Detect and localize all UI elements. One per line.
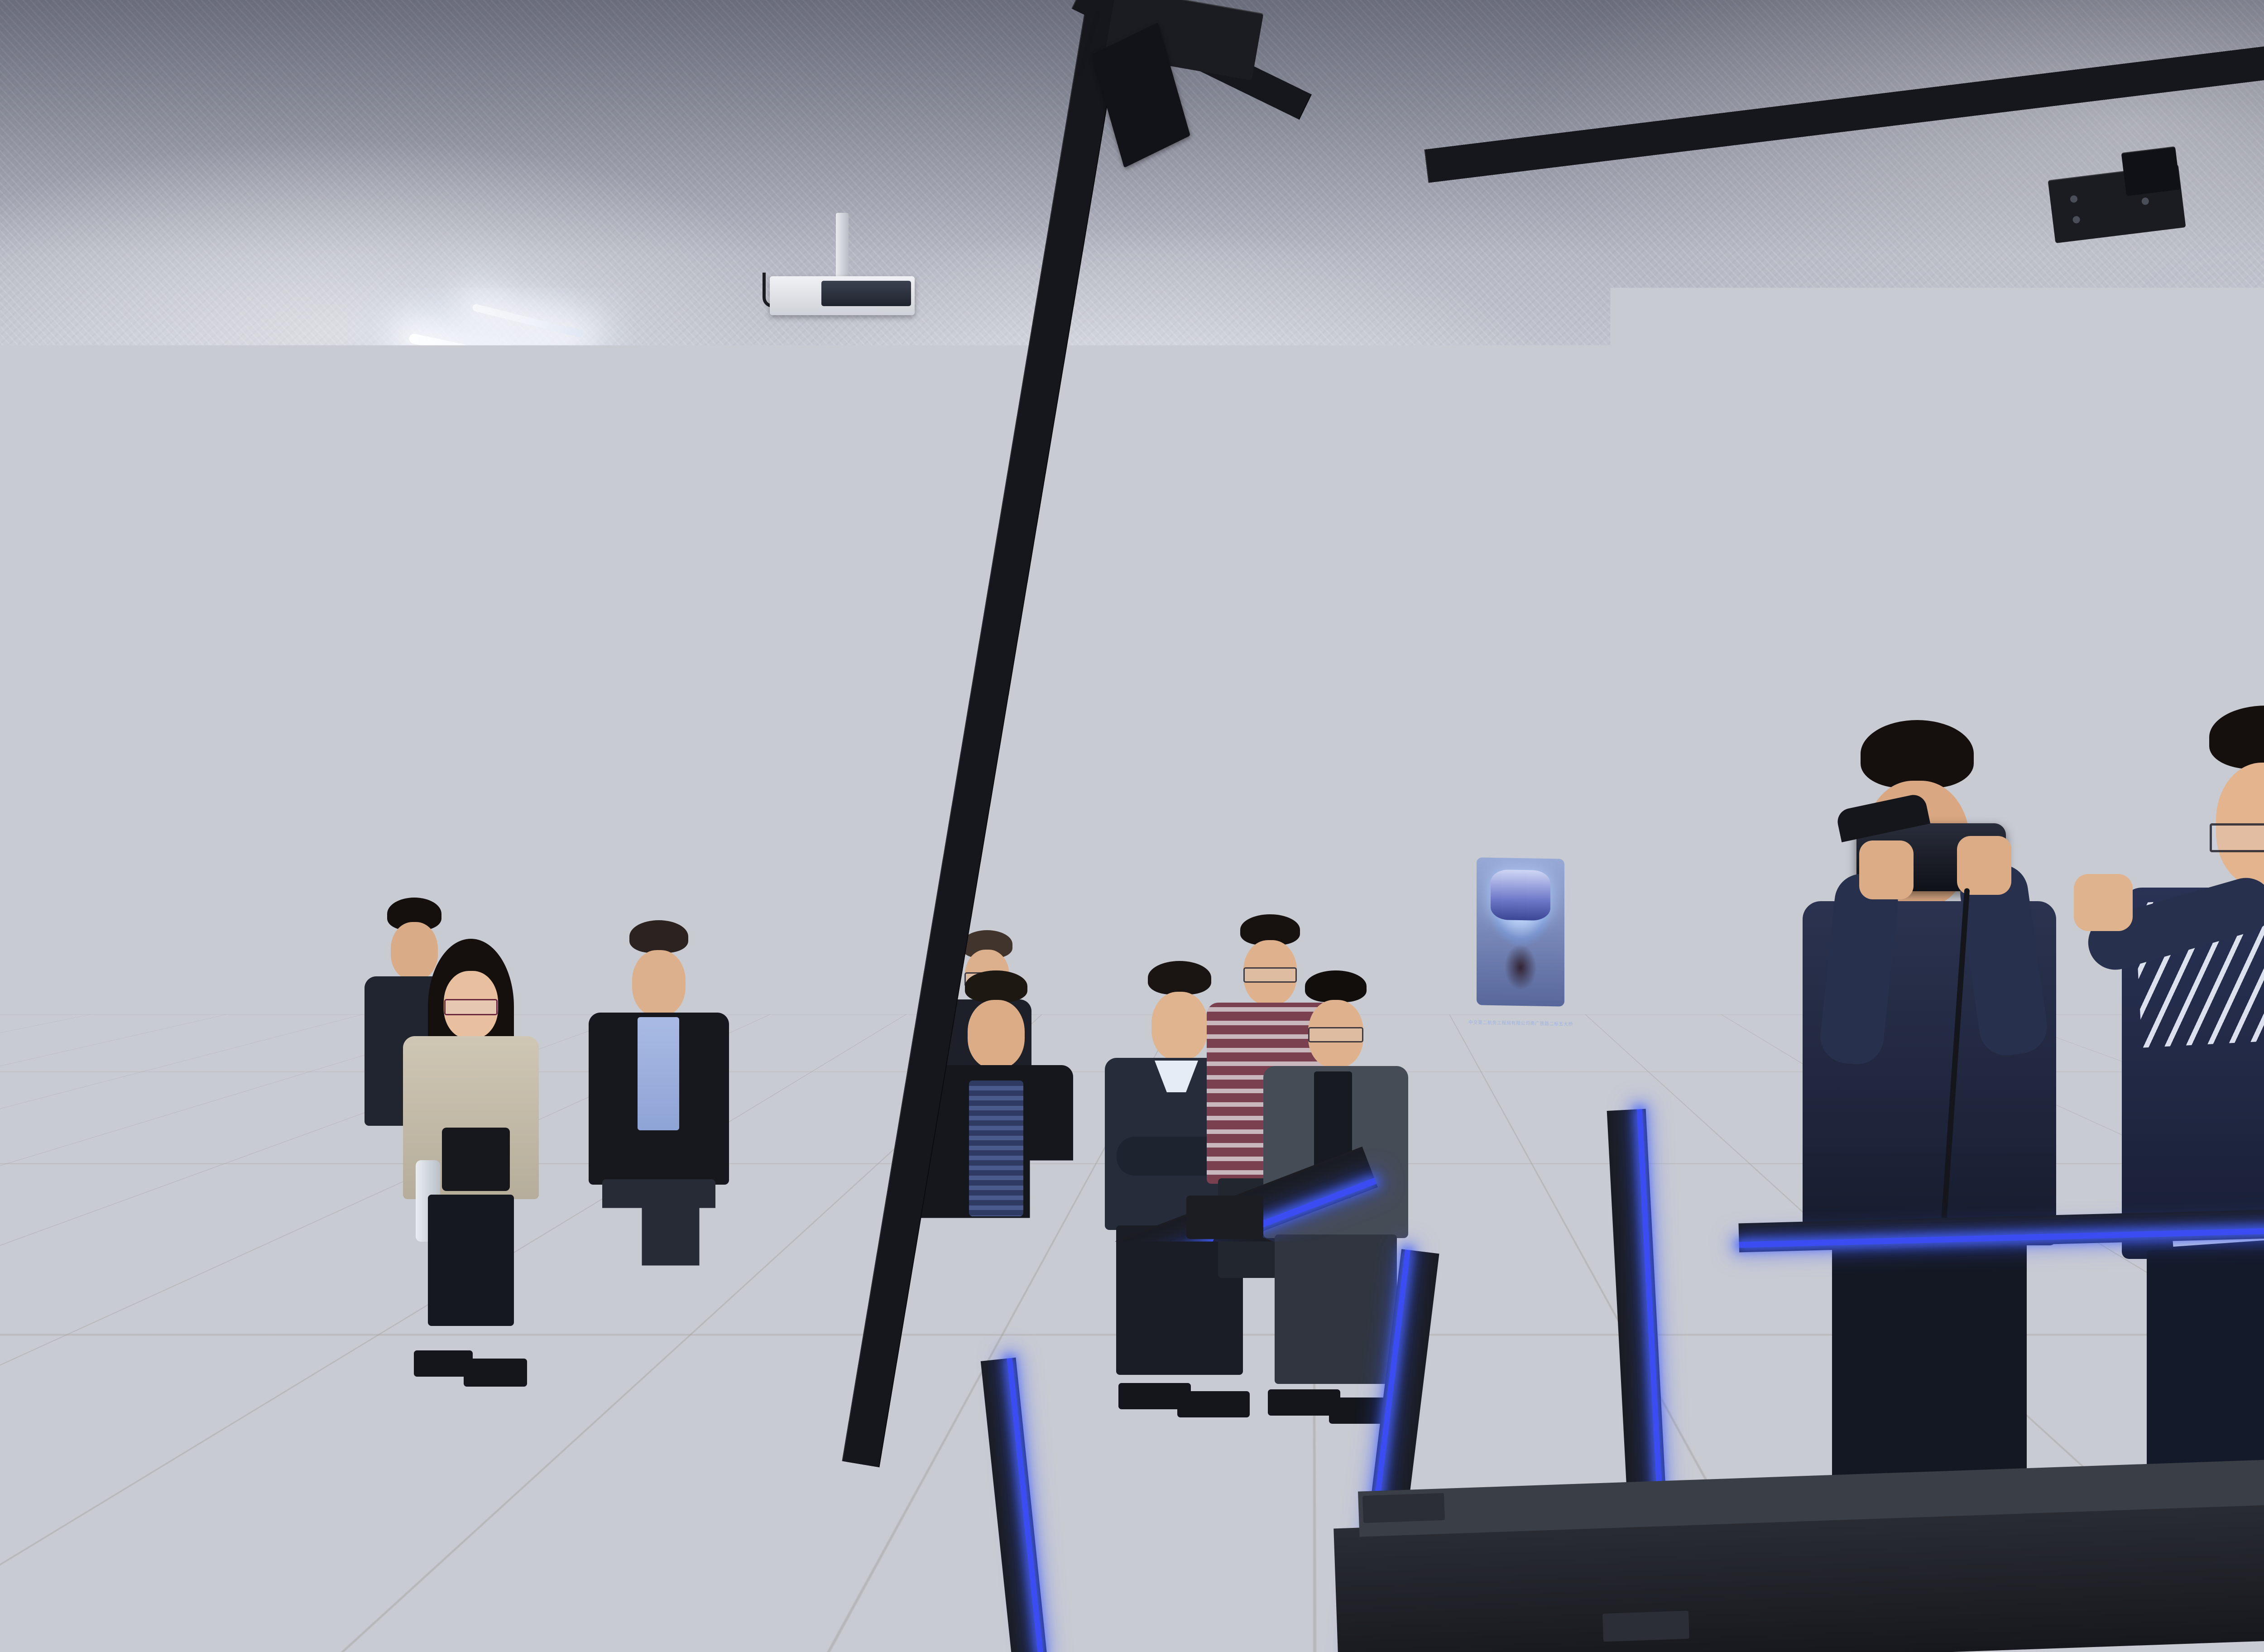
poster-vr-wordmark: VR [1468, 665, 1573, 725]
projector-lens [821, 281, 911, 306]
truss-end-cap [2121, 146, 2181, 196]
audience-member [584, 937, 734, 1372]
bench-leg [249, 1218, 256, 1313]
dress-shirt [638, 1017, 679, 1130]
legs [428, 1195, 514, 1326]
ceiling-projector [770, 213, 915, 322]
projector-pole-mount [836, 213, 849, 281]
hand [1957, 836, 2011, 895]
post-base-plate [1362, 1493, 1445, 1523]
truss-bolt [2141, 197, 2149, 205]
head [968, 1000, 1025, 1069]
bench-armrest [2, 1142, 11, 1270]
poster-subtitle-1: VR安全体验 [1468, 790, 1573, 805]
poster-vr-goggles [1339, 860, 1396, 911]
eyeglasses [2210, 823, 2264, 852]
poster-vr-user-photo [1477, 857, 1564, 1006]
eyeglasses [1243, 967, 1297, 983]
poster-company-name: 中交第二航务工程局有限公司 [1334, 624, 1416, 637]
head [632, 950, 686, 1016]
shoe [657, 1356, 724, 1385]
cccc-compass-logo [482, 740, 631, 895]
striped-shirt [969, 1081, 1023, 1216]
hair [1148, 961, 1211, 994]
poster-header: 中交第二航务工程局有限公司 [1468, 619, 1573, 658]
cccc-logo-icon [1472, 633, 1482, 643]
poster-company-name: 中交第二航务工程局有限公司 [1485, 633, 1573, 645]
legs [602, 1179, 715, 1329]
poster-subtitle-1: VR安全体验 [1318, 780, 1416, 796]
shoe [598, 1349, 666, 1377]
hair [1861, 720, 1974, 788]
cccc-logo-icon [1321, 624, 1331, 634]
hair [965, 970, 1027, 1002]
vr-training-room-photo: VR多媒体安全教育培训中心 中交第二航务工程局有限公司 南广长江大桥二标项目部 [0, 0, 2264, 1652]
poster-vr-wordmark: VR [1318, 656, 1416, 717]
head [1151, 992, 1208, 1061]
eyeglasses [444, 999, 498, 1015]
attendee-wearing-vr-headset [1780, 752, 2092, 1549]
poster-header: 中交第二航务工程局有限公司 [1318, 611, 1416, 650]
hand [1859, 840, 1914, 899]
shoe [464, 1359, 527, 1387]
instructor-assisting [2069, 738, 2264, 1553]
hair [1305, 970, 1367, 1002]
handbag [442, 1128, 510, 1191]
bench-leg [59, 1246, 66, 1345]
eyeglasses [1308, 1027, 1363, 1042]
vr-poster-right: 中交第二航务工程局有限公司 VR 未来已来 VR安全体验 虚拟现实VR技术 打造… [1468, 619, 1573, 1031]
shoe [1177, 1391, 1250, 1417]
poster-vr-goggles [1491, 869, 1550, 921]
truss-bolt [2072, 216, 2081, 224]
audience-member [398, 956, 543, 1377]
post-base-plate [1602, 1611, 1689, 1642]
projector-body [770, 276, 915, 315]
hair [629, 920, 688, 953]
hand [2074, 874, 2133, 931]
guardrail-apex-cap [1186, 1196, 1263, 1239]
truss-bolt [2070, 195, 2078, 203]
